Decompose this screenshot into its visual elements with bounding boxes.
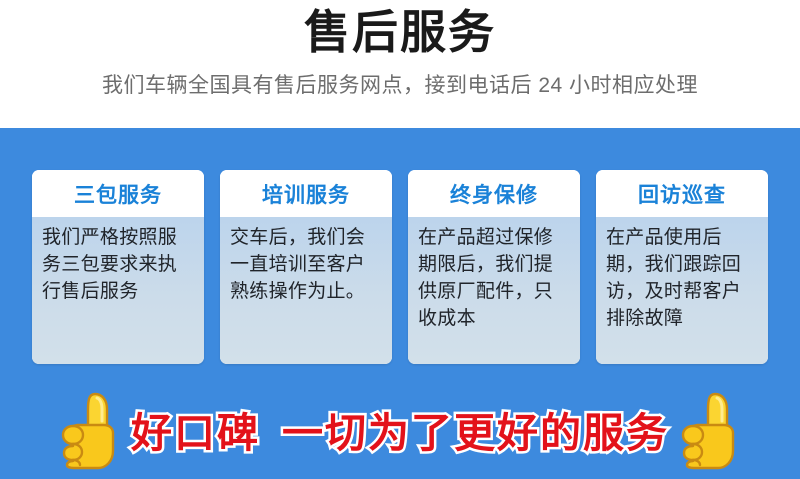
after-sales-service-infographic: 售后服务 我们车辆全国具有售后服务网点，接到电话后 24 小时相应处理 三包服务… [0,0,800,479]
card-body: 在产品超过保修期限后，我们提供原厂配件，只收成本 [408,217,580,364]
banner-slogan-left: 好口碑 [131,410,260,456]
service-cards-row: 三包服务 我们严格按照服务三包要求来执行售后服务 培训服务 交车后，我们会一直培… [32,170,768,364]
banner-slogan-right: 一切为了更好的服务 [282,410,669,456]
thumbs-up-icon [55,388,125,470]
card-description: 交车后，我们会一直培训至客户熟练操作为止。 [230,225,382,306]
card-body: 交车后，我们会一直培训至客户熟练操作为止。 [220,217,392,364]
card-header: 培训服务 [220,170,392,217]
service-card-lifetime-warranty[interactable]: 终身保修 在产品超过保修期限后，我们提供原厂配件，只收成本 [408,170,580,364]
header-section: 售后服务 我们车辆全国具有售后服务网点，接到电话后 24 小时相应处理 [0,0,800,128]
card-title: 终身保修 [450,179,538,209]
card-header: 三包服务 [32,170,204,217]
card-body: 我们严格按照服务三包要求来执行售后服务 [32,217,204,364]
card-description: 我们严格按照服务三包要求来执行售后服务 [42,225,194,306]
card-body: 在产品使用后期，我们跟踪回访，及时帮客户排除故障 [596,217,768,364]
page-subtitle: 我们车辆全国具有售后服务网点，接到电话后 24 小时相应处理 [102,69,698,99]
service-card-san-bao[interactable]: 三包服务 我们严格按照服务三包要求来执行售后服务 [32,170,204,364]
card-title: 培训服务 [262,179,350,209]
card-description: 在产品使用后期，我们跟踪回访，及时帮客户排除故障 [606,225,758,333]
thumbs-up-icon [675,388,745,470]
service-card-training[interactable]: 培训服务 交车后，我们会一直培训至客户熟练操作为止。 [220,170,392,364]
card-description: 在产品超过保修期限后，我们提供原厂配件，只收成本 [418,225,570,333]
service-card-followup-inspection[interactable]: 回访巡查 在产品使用后期，我们跟踪回访，及时帮客户排除故障 [596,170,768,364]
card-header: 终身保修 [408,170,580,217]
card-title: 三包服务 [74,179,162,209]
page-title: 售后服务 [304,6,496,59]
card-title: 回访巡查 [638,179,726,209]
banner-slogan: 好口碑一切为了更好的服务 [131,399,669,459]
bottom-slogan-banner: 好口碑一切为了更好的服务 [0,378,800,479]
card-header: 回访巡查 [596,170,768,217]
